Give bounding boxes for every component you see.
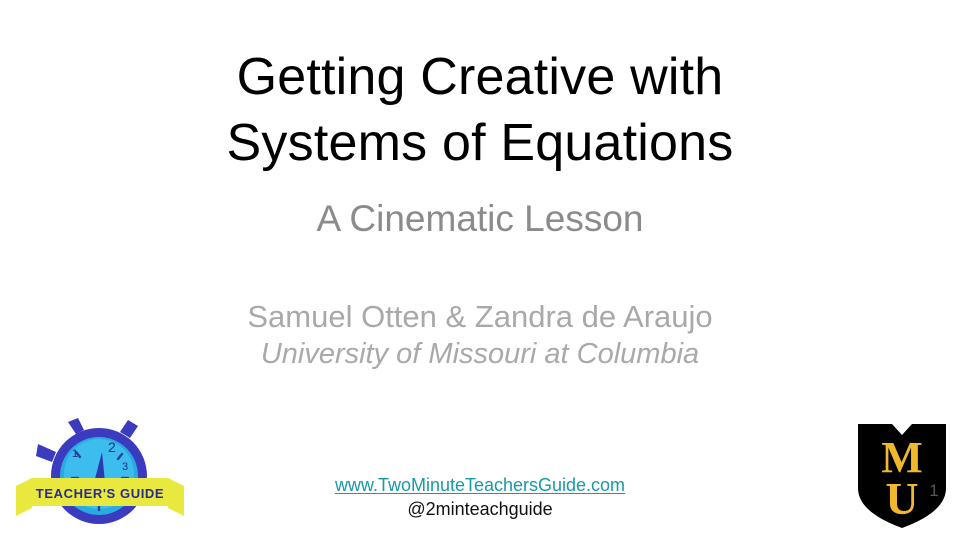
slide-canvas: Getting Creative with Systems of Equatio… — [0, 0, 960, 540]
page-title: Getting Creative with Systems of Equatio… — [0, 44, 960, 176]
mizzou-logo: M U — [856, 422, 948, 530]
mu-shield-icon: M U — [858, 424, 946, 528]
author-affiliation: University of Missouri at Columbia — [0, 336, 960, 373]
clock-numeral-1: 1 — [72, 448, 78, 460]
slide-subtitle: A Cinematic Lesson — [0, 196, 960, 242]
stopwatch-icon: 1 2 3 — [36, 418, 147, 524]
title-line-1: Getting Creative with — [0, 44, 960, 110]
banner-label: TEACHER'S GUIDE — [36, 486, 164, 501]
clock-numeral-2: 2 — [108, 439, 116, 455]
authors-block: Samuel Otten & Zandra de Araujo Universi… — [0, 298, 960, 373]
clock-numeral-3: 3 — [122, 461, 128, 473]
mu-letter-u: U — [885, 473, 918, 524]
slide-number: 1 — [922, 480, 946, 502]
author-names: Samuel Otten & Zandra de Araujo — [0, 298, 960, 336]
teachers-guide-logo: 1 2 3 TEACHER'S GUIDE — [16, 416, 184, 532]
website-link[interactable]: www.TwoMinuteTeachersGuide.com — [335, 474, 625, 497]
title-line-2: Systems of Equations — [0, 110, 960, 176]
